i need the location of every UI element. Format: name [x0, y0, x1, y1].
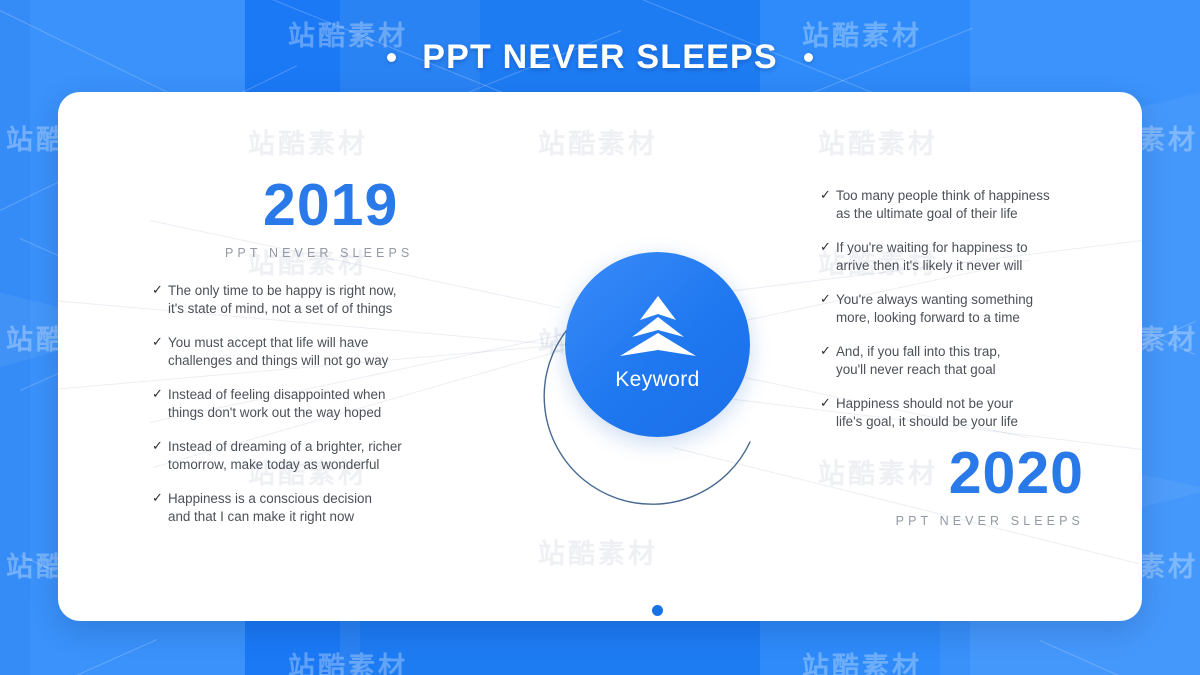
year-subtitle: PPT NEVER SLEEPS — [864, 514, 1084, 528]
list-item-text: Happiness should not be your life's goal… — [836, 395, 1018, 431]
bullet-list-right: ✓ Too many people think of happiness as … — [820, 187, 1100, 447]
title-dot-left-icon — [387, 53, 396, 62]
check-icon: ✓ — [152, 490, 168, 508]
arc-endpoint-dot-bottom — [652, 605, 663, 616]
check-icon: ✓ — [820, 343, 836, 361]
check-icon: ✓ — [820, 239, 836, 257]
list-item: ✓ You must accept that life will have ch… — [152, 334, 444, 370]
year-number: 2019 — [205, 176, 413, 235]
list-item-text: Instead of dreaming of a brighter, riche… — [168, 438, 402, 474]
list-item-text: You must accept that life will have chal… — [168, 334, 388, 370]
bullet-list-left: ✓ The only time to be happy is right now… — [152, 282, 444, 542]
list-item: ✓ Happiness should not be your life's go… — [820, 395, 1100, 431]
watermark: 站酷素材 — [538, 532, 658, 571]
title-dot-right-icon — [804, 53, 813, 62]
check-icon: ✓ — [820, 395, 836, 413]
check-icon: ✓ — [152, 386, 168, 404]
list-item: ✓ If you're waiting for happiness to arr… — [820, 239, 1100, 275]
list-item: ✓ The only time to be happy is right now… — [152, 282, 444, 318]
year-subtitle: PPT NEVER SLEEPS — [205, 246, 413, 260]
year-block-2020: 2020 PPT NEVER SLEEPS — [864, 444, 1084, 528]
list-item-text: The only time to be happy is right now, … — [168, 282, 397, 318]
list-item-text: Happiness is a conscious decision and th… — [168, 490, 372, 526]
list-item: ✓ Too many people think of happiness as … — [820, 187, 1100, 223]
page-title: PPT NEVER SLEEPS — [422, 38, 778, 77]
list-item: ✓ You're always wanting something more, … — [820, 291, 1100, 327]
year-block-2019: 2019 PPT NEVER SLEEPS — [205, 176, 413, 260]
slide-title-bar: PPT NEVER SLEEPS — [0, 38, 1200, 77]
list-item-text: Too many people think of happiness as th… — [836, 187, 1050, 223]
check-icon: ✓ — [152, 438, 168, 456]
keyword-circle[interactable]: Keyword — [565, 252, 750, 437]
list-item-text: And, if you fall into this trap, you'll … — [836, 343, 1001, 379]
keyword-label: Keyword — [615, 368, 700, 392]
watermark: 站酷素材 — [818, 122, 938, 161]
list-item: ✓ Instead of dreaming of a brighter, ric… — [152, 438, 444, 474]
check-icon: ✓ — [820, 291, 836, 309]
watermark: 站酷素材 — [538, 122, 658, 161]
list-item: ✓ Instead of feeling disappointed when t… — [152, 386, 444, 422]
content-card: 站酷素材 站酷素材 站酷素材 站酷素材 站酷素材 站酷素材 站酷素材 站酷素材 … — [58, 92, 1142, 621]
list-item: ✓ And, if you fall into this trap, you'l… — [820, 343, 1100, 379]
pyramid-stack-icon — [616, 294, 700, 360]
list-item: ✓ Happiness is a conscious decision and … — [152, 490, 444, 526]
slide-canvas: 站酷素材 站酷素材 站酷素材 站酷素材 站酷素材 站酷素材 站酷素材 站酷素材 … — [0, 0, 1200, 675]
watermark: 站酷素材 — [248, 122, 368, 161]
list-item-text: Instead of feeling disappointed when thi… — [168, 386, 385, 422]
list-item-text: If you're waiting for happiness to arriv… — [836, 239, 1028, 275]
list-item-text: You're always wanting something more, lo… — [836, 291, 1033, 327]
check-icon: ✓ — [152, 334, 168, 352]
year-number: 2020 — [864, 444, 1084, 503]
check-icon: ✓ — [152, 282, 168, 300]
check-icon: ✓ — [820, 187, 836, 205]
